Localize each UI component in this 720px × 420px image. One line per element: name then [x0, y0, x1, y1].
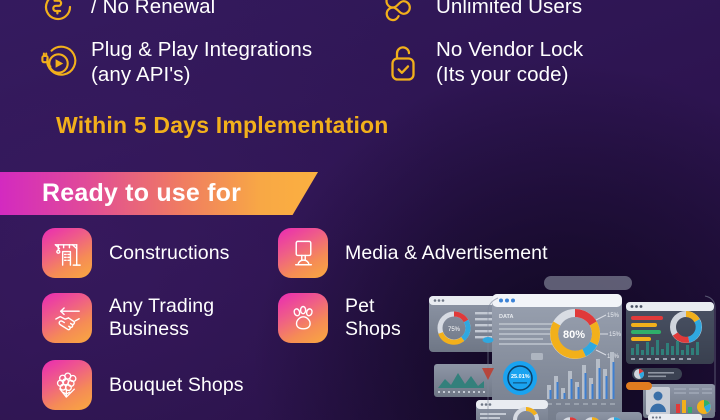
- feature-label: Unlimited Users: [436, 0, 582, 19]
- feature-label: No Vendor Lock (Its your code): [436, 38, 583, 87]
- analytics-dashboard-illustration: 75%: [420, 272, 720, 420]
- money-back-icon: [38, 0, 78, 28]
- usecase-media-and-advertisement[interactable]: Media & Advertisement: [278, 228, 548, 278]
- svg-text:15%: 15%: [609, 332, 622, 338]
- implementation-headline: Within 5 Days Implementation: [56, 112, 389, 139]
- construction-crane-icon: [42, 228, 92, 278]
- svg-text:75%: 75%: [448, 327, 461, 333]
- donut-center-value: 80%: [563, 329, 585, 341]
- usecase-label: Pet Shops: [345, 295, 401, 340]
- feature-no-renewal: / No Renewal: [38, 0, 215, 28]
- flower-bouquet-icon: [42, 360, 92, 410]
- usecase-label: Bouquet Shops: [109, 374, 244, 397]
- feature-label: Plug & Play Integrations (any API's): [91, 38, 312, 87]
- handshake-icon: [42, 293, 92, 343]
- blue-circle-value: 25.01%: [511, 374, 530, 380]
- unlocked-padlock-check-icon: [383, 42, 423, 84]
- usecase-label: Constructions: [109, 242, 230, 265]
- billboard-icon: [278, 228, 328, 278]
- usecase-any-trading-business[interactable]: Any Trading Business: [42, 293, 214, 343]
- svg-text:15%: 15%: [607, 313, 620, 319]
- usecase-label: Media & Advertisement: [345, 242, 548, 265]
- usecase-bouquet-shops[interactable]: Bouquet Shops: [42, 360, 244, 410]
- infinity-icon: [383, 0, 423, 28]
- plug-play-icon: [38, 42, 78, 84]
- feature-no-vendor-lock: No Vendor Lock (Its your code): [383, 38, 583, 87]
- usecase-pet-shops[interactable]: Pet Shops: [278, 293, 401, 343]
- usecase-constructions[interactable]: Constructions: [42, 228, 230, 278]
- usecase-label: Any Trading Business: [109, 295, 214, 340]
- main-window-title: DATA: [499, 314, 513, 320]
- promo-banner-canvas: / No Renewal Unlimited Users Plug & Play…: [0, 0, 720, 420]
- paw-print-icon: [278, 293, 328, 343]
- feature-plug-and-play: Plug & Play Integrations (any API's): [38, 38, 312, 87]
- feature-unlimited-users: Unlimited Users: [383, 0, 582, 28]
- ready-to-use-banner: Ready to use for: [0, 172, 318, 215]
- feature-label: / No Renewal: [91, 0, 215, 19]
- ready-to-use-label: Ready to use for: [42, 179, 241, 208]
